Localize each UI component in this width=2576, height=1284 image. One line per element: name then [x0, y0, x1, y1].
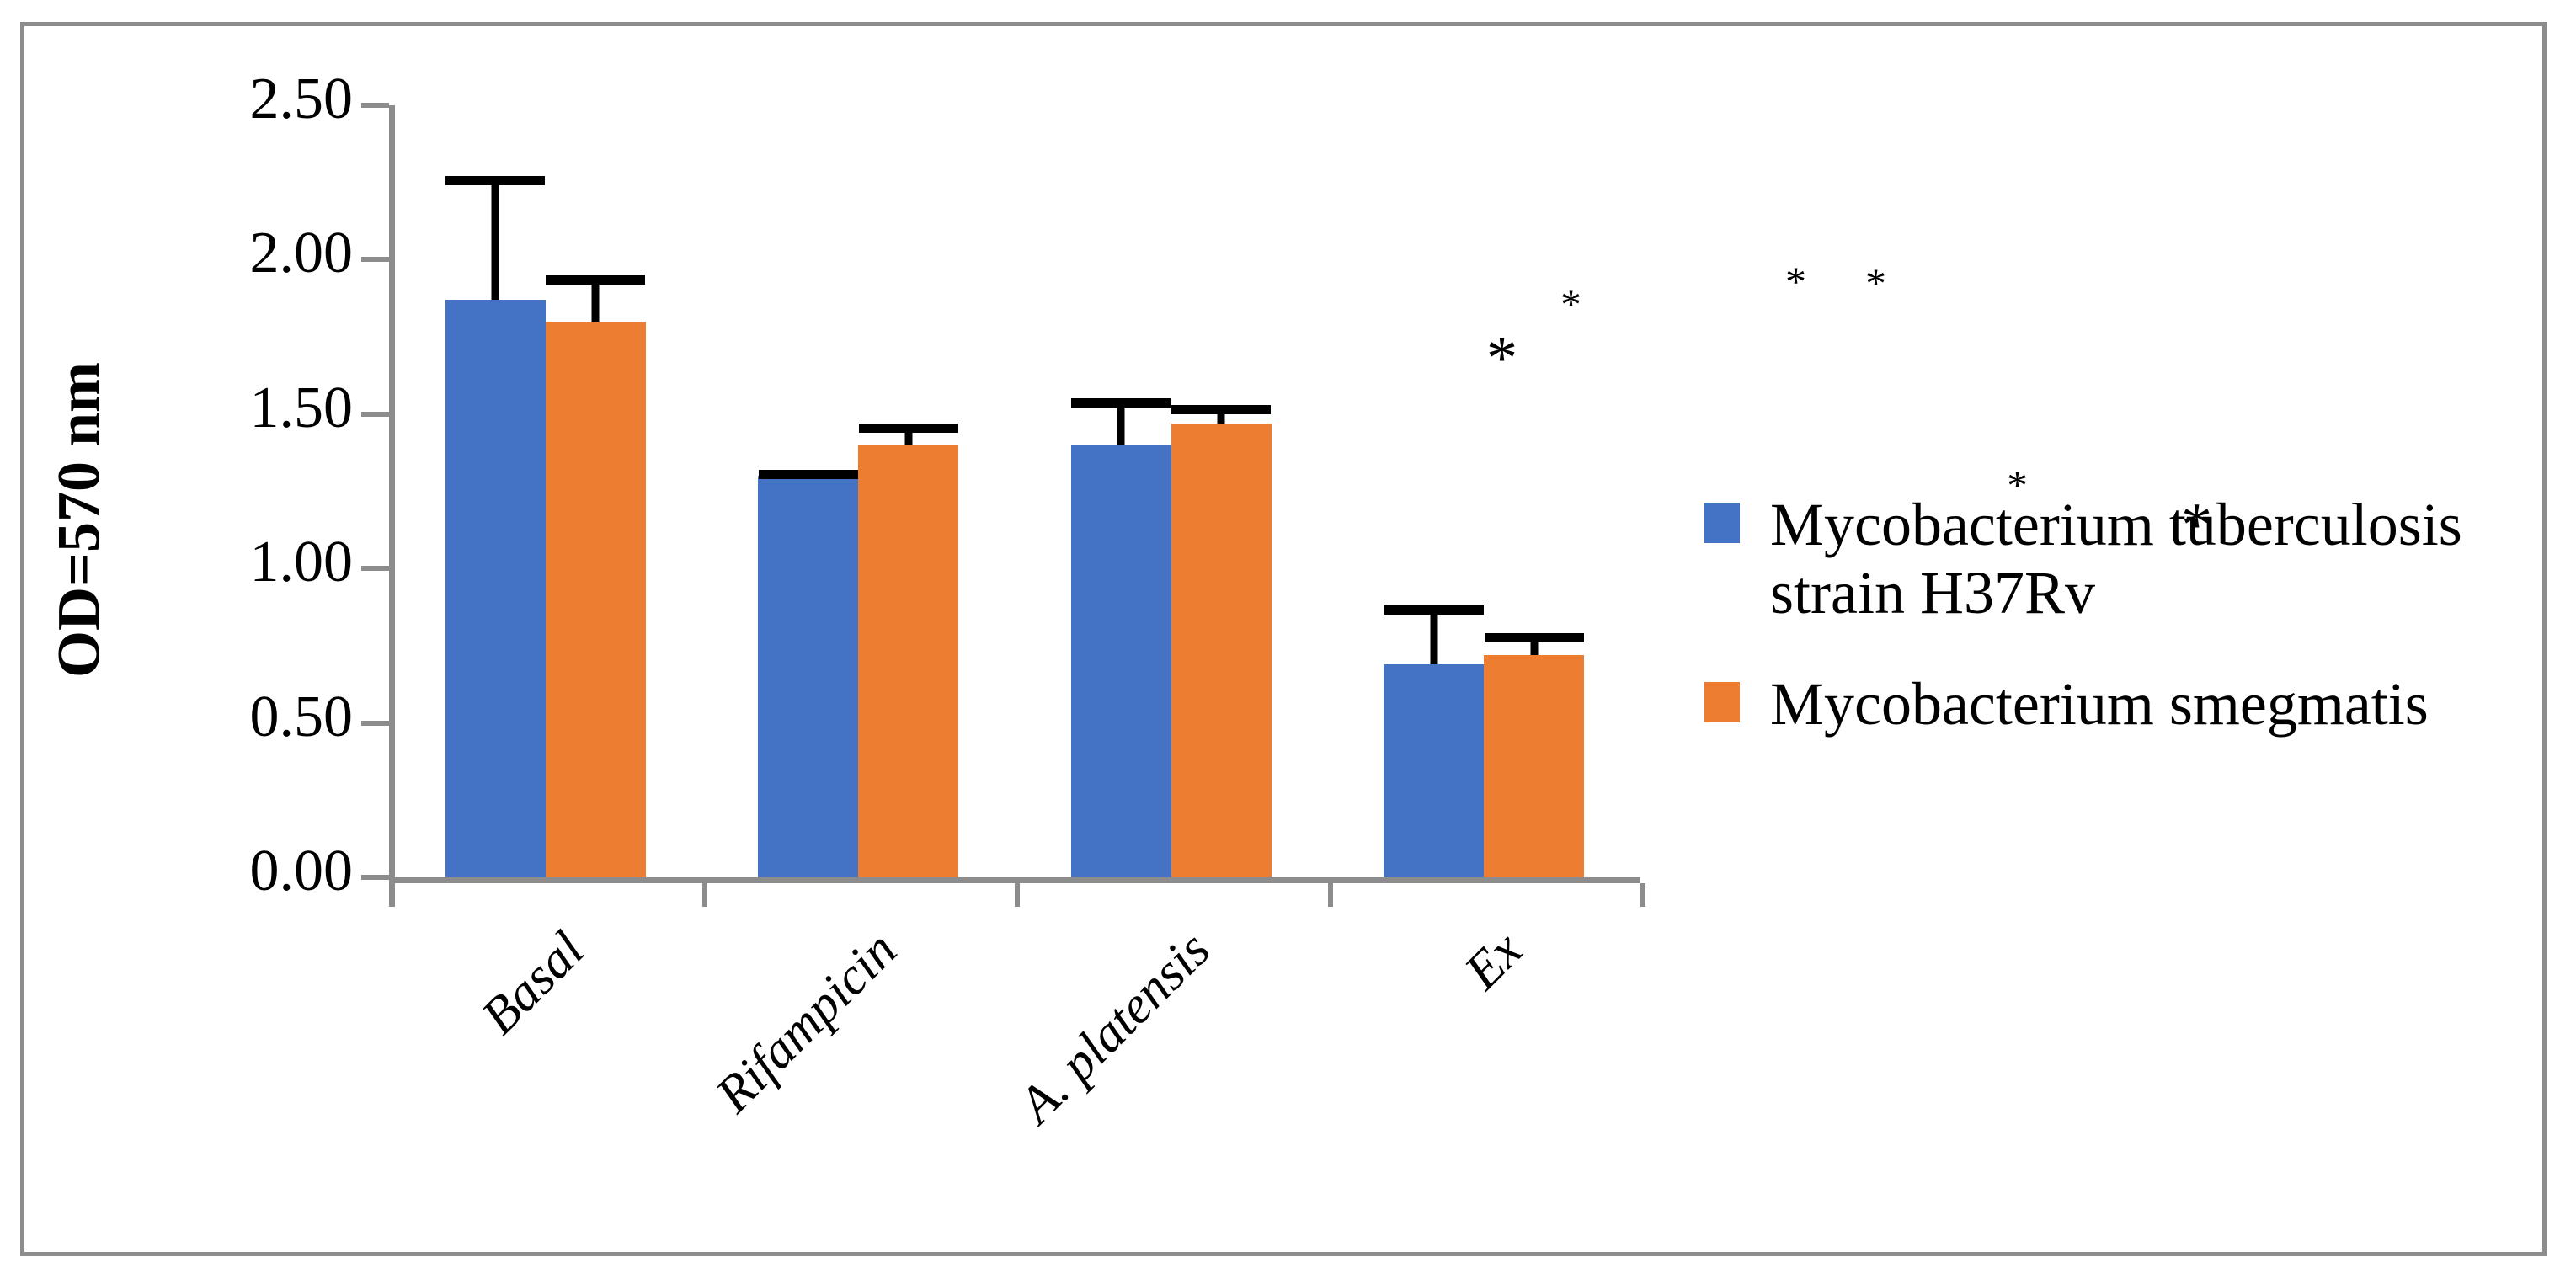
error-bar	[758, 105, 858, 877]
x-axis-label-a-platensis: A. platensis	[924, 920, 1222, 1218]
error-bar	[1484, 105, 1584, 877]
x-axis-tick	[1015, 883, 1020, 907]
error-bar-cap	[759, 470, 858, 479]
x-axis-tick	[1640, 883, 1645, 907]
x-axis-tick	[389, 883, 394, 907]
y-axis-tick	[361, 257, 389, 262]
error-bar-stem	[492, 176, 499, 300]
y-axis-tick-label: 0.00	[151, 842, 353, 901]
y-axis-tick-label: 0.50	[151, 688, 353, 747]
y-axis-tick-label: 1.50	[151, 379, 353, 438]
y-axis-tick	[361, 721, 389, 726]
legend-item-label: Mycobacterium tuberculosis strain H37Rv	[1770, 491, 2477, 626]
x-axis-label-ex: Ex	[1236, 920, 1534, 1218]
error-bar	[858, 105, 958, 877]
legend-item[interactable]: Mycobacterium tuberculosis strain H37Rv	[1704, 491, 2513, 626]
significance-asterisk: *	[1486, 328, 1517, 390]
legend-color-swatch	[1704, 503, 1740, 543]
significance-asterisk: *	[1785, 260, 1806, 302]
error-bar	[445, 105, 546, 877]
plot-area: OD=570 nm 0.000.501.001.502.002.50 Basal…	[24, 26, 2551, 1260]
error-bar-cap	[546, 275, 645, 285]
x-axis-label-basal: Basal	[298, 920, 596, 1218]
significance-asterisk: *	[1865, 262, 1886, 304]
error-bar-cap	[1071, 398, 1171, 408]
y-axis-tick	[361, 412, 389, 417]
y-axis-tick-label: 2.00	[151, 224, 353, 283]
y-axis-tick	[361, 103, 389, 108]
x-axis-tick	[702, 883, 707, 907]
x-axis-tick	[1328, 883, 1333, 907]
y-axis-tick-label: 2.50	[151, 70, 353, 129]
bars-layer	[389, 105, 1640, 877]
significance-asterisk: *	[1560, 283, 1581, 325]
legend-item[interactable]: Mycobacterium smegmatis	[1704, 670, 2513, 738]
y-axis-tick	[361, 566, 389, 571]
x-axis-line	[389, 877, 1640, 883]
legend-color-swatch	[1704, 682, 1740, 722]
figure-frame: OD=570 nm 0.000.501.001.502.002.50 Basal…	[20, 22, 2547, 1256]
y-axis-tick-label: 1.00	[151, 533, 353, 592]
error-bar-cap	[859, 424, 958, 433]
error-bar	[1071, 105, 1171, 877]
error-bar-cap	[445, 176, 545, 185]
legend-item-label: Mycobacterium smegmatis	[1770, 670, 2429, 738]
error-bar	[546, 105, 646, 877]
y-axis-title: OD=570 nm	[45, 226, 115, 815]
chart-legend: Mycobacterium tuberculosis strain H37RvM…	[1704, 491, 2513, 782]
error-bar	[1384, 105, 1484, 877]
error-bar	[1171, 105, 1272, 877]
x-axis-label-rifampicin: Rifampicin	[611, 920, 909, 1218]
error-bar-cap	[1384, 605, 1484, 615]
error-bar-cap	[1485, 633, 1584, 642]
error-bar-cap	[1171, 405, 1271, 414]
y-axis-tick	[361, 875, 389, 880]
